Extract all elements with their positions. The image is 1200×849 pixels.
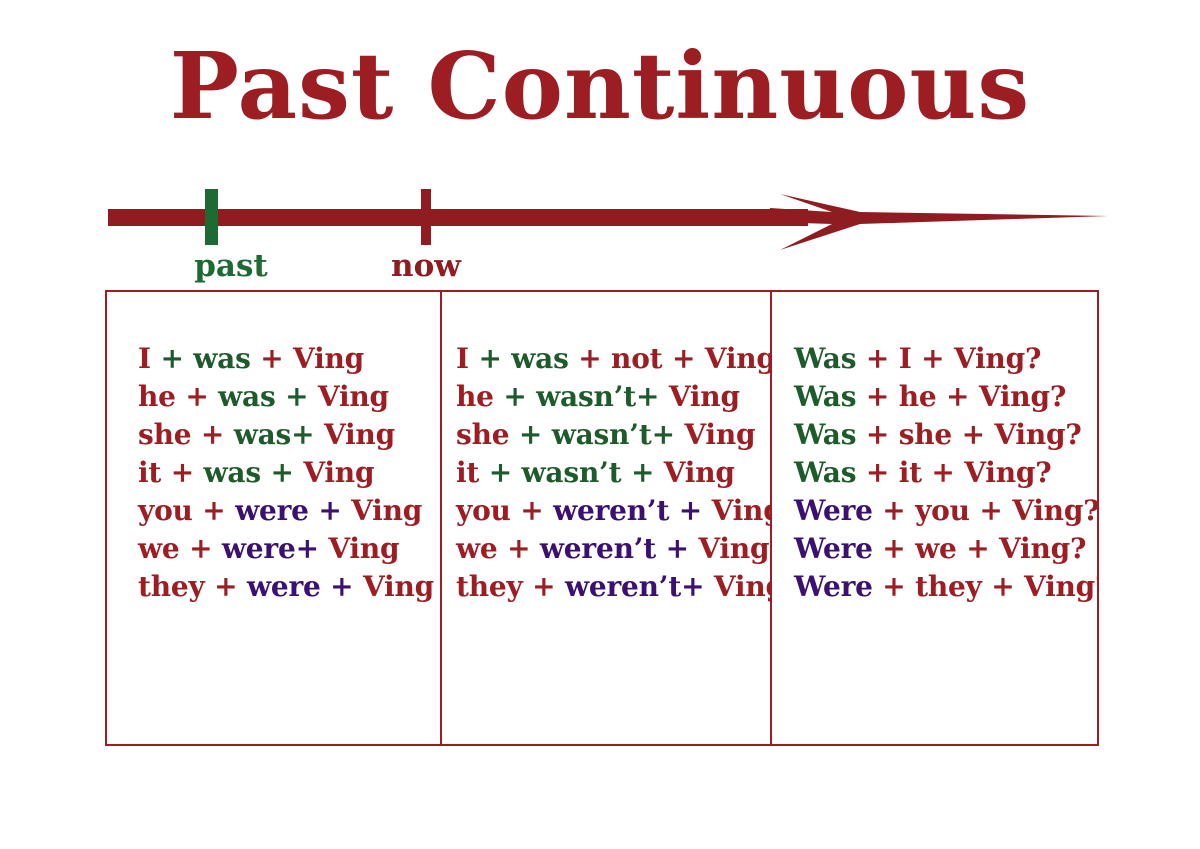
conjugation-row: I + was + Ving [138,340,440,378]
conjugation-segment: + [185,380,218,413]
conjugation-row: Were + they + Ving? [794,568,1097,606]
conjugation-segment: they [456,570,532,603]
conjugation-row: we + were+ Ving [138,530,440,568]
conjugation-segment: + [931,456,964,489]
conjugation-segment: + [866,380,899,413]
conjugation-segment: + [921,342,954,375]
conjugation-segment: was [204,456,271,489]
conjugation-row: he + was + Ving [138,378,440,416]
conjugation-segment: Ving [664,456,735,489]
conjugation-row: it + was + Ving [138,454,440,492]
conjugation-row: Were + you + Ving? [794,492,1097,530]
conjugation-segment: + [318,494,351,527]
conjugation-segment: + [271,456,304,489]
conjugation-segment: Ving? [954,342,1041,375]
conjugation-segment: wasn’t [522,456,631,489]
conjugation-segment: Ving [363,570,434,603]
conjugation-segment: Ving [351,494,422,527]
conjugation-segment: + [189,532,222,565]
conjugation-segment: Ving [684,418,755,451]
conjugation-segment: it [138,456,171,489]
conjugation-segment: + [160,342,193,375]
conjugation-segment: he [899,380,946,413]
conjugation-row: they + were + Ving [138,568,440,606]
conjugation-segment: I [456,342,478,375]
conjugation-segment: + [866,418,899,451]
conjugation-row: she + wasn’t+ Ving [456,416,770,454]
timeline-arrow-icon [770,178,1110,258]
conjugation-segment: + [507,532,540,565]
conjugation-segment: + [478,342,511,375]
conjugation-segment: + [631,456,664,489]
conjugation-table: I + was + Vinghe + was + Vingshe + was+ … [105,290,1099,746]
conjugation-segment: Was [794,456,866,489]
conjugation-segment: + [519,418,552,451]
timeline-tick-past [205,189,218,245]
conjugation-row: she + was+ Ving [138,416,440,454]
conjugation-row: you + were + Ving [138,492,440,530]
conjugation-segment: were [222,532,296,565]
conjugation-segment: weren’t [565,570,681,603]
conjugation-segment: wasn’t [536,380,636,413]
conjugation-segment: she [899,418,962,451]
conjugation-segment: + [296,532,329,565]
conjugation-segment: + [672,342,705,375]
timeline-tick-now [421,189,431,245]
conjugation-segment: + [489,456,522,489]
conjugation-segment: we [915,532,966,565]
conjugation-segment: we [138,532,189,565]
conjugation-segment: + [503,380,536,413]
conjugation-segment: Ving [303,456,374,489]
conjugation-segment: + [979,494,1012,527]
conjugation-segment: weren’t [553,494,679,527]
conjugation-segment: + [532,570,565,603]
conjugation-segment: + [866,342,899,375]
conjugation-segment: he [138,380,185,413]
conjugation-segment: I [899,342,921,375]
conjugation-segment: he [456,380,503,413]
conjugation-segment: was [511,342,578,375]
conjugation-row: Were + we + Ving? [794,530,1097,568]
conjugation-segment: was [218,380,285,413]
conjugation-segment: Ving [328,532,399,565]
conjugation-row: Was + it + Ving? [794,454,1097,492]
conjugation-segment: not [611,342,672,375]
conjugation-row: Was + he + Ving? [794,378,1097,416]
timeline-label-now: now [371,248,481,284]
conjugation-segment: Ving? [999,532,1086,565]
page-title: Past Continuous [0,38,1200,135]
timeline-label-past: past [176,248,286,284]
conjugation-segment: was [193,342,260,375]
conjugation-segment: Was [794,418,866,451]
conjugation-segment: Was [794,342,866,375]
conjugation-segment: Was [794,380,866,413]
conjugation-row: I + was + not + Ving [456,340,770,378]
conjugation-segment: + [882,570,915,603]
conjugation-segment: Ving [318,380,389,413]
conjugation-segment: + [652,418,685,451]
conjugation-segment: they [915,570,991,603]
conjugation-segment: Ving [712,494,772,527]
conjugation-row: it + wasn’t + Ving [456,454,770,492]
conjugation-segment: were [247,570,330,603]
conjugation-segment: Ving [705,342,772,375]
conjugation-segment: + [882,494,915,527]
conjugation-row: he + wasn’t+ Ving [456,378,770,416]
conjugation-segment: Ving? [994,418,1081,451]
conjugation-segment: Ving [714,570,772,603]
conjugation-segment: + [171,456,204,489]
conjugation-segment: Ving? [964,456,1051,489]
conjugation-segment: + [260,342,293,375]
conjugation-segment: Ving [324,418,395,451]
conjugation-segment: were [235,494,318,527]
conjugation-segment: + [636,380,669,413]
conjugation-segment: + [666,532,699,565]
conjugation-segment: + [214,570,247,603]
conjugation-segment: we [456,532,507,565]
conjugation-segment: Were [794,570,882,603]
conjugation-segment: they [138,570,214,603]
conjugation-segment: + [882,532,915,565]
conjugation-segment: + [330,570,363,603]
conjugation-segment: she [456,418,519,451]
timeline-diagram: past now [0,170,1200,285]
table-column-interrogative: Was + I + Ving?Was + he + Ving?Was + she… [772,292,1097,744]
conjugation-segment: was [234,418,291,451]
conjugation-segment: wasn’t [552,418,652,451]
conjugation-segment: + [966,532,999,565]
conjugation-segment: + [285,380,318,413]
conjugation-segment: + [291,418,324,451]
conjugation-segment: + [679,494,712,527]
conjugation-segment: she [138,418,201,451]
conjugation-segment: + [962,418,995,451]
conjugation-segment: weren’t [540,532,666,565]
conjugation-segment: + [202,494,235,527]
conjugation-segment: you [915,494,979,527]
conjugation-row: we + weren’t + Ving [456,530,770,568]
conjugation-segment: + [866,456,899,489]
conjugation-row: you + weren’t + Ving [456,492,770,530]
conjugation-segment: Ving [669,380,740,413]
conjugation-segment: Ving? [1024,570,1097,603]
table-column-affirmative: I + was + Vinghe + was + Vingshe + was+ … [107,292,442,744]
conjugation-row: Was + she + Ving? [794,416,1097,454]
conjugation-segment: it [899,456,932,489]
conjugation-row: Was + I + Ving? [794,340,1097,378]
conjugation-segment: + [201,418,234,451]
conjugation-segment: it [456,456,489,489]
conjugation-segment: Ving [293,342,364,375]
conjugation-segment: Ving? [979,380,1066,413]
conjugation-segment: + [991,570,1024,603]
conjugation-segment: + [681,570,714,603]
conjugation-segment: Ving [698,532,769,565]
conjugation-segment: Were [794,494,882,527]
conjugation-segment: I [138,342,160,375]
table-column-negative: I + was + not + Vinghe + wasn’t+ Vingshe… [442,292,772,744]
conjugation-segment: you [456,494,520,527]
conjugation-row: they + weren’t+ Ving [456,568,770,606]
conjugation-segment: Were [794,532,882,565]
conjugation-segment: Ving? [1012,494,1097,527]
conjugation-segment: you [138,494,202,527]
conjugation-segment: + [578,342,611,375]
conjugation-segment: + [520,494,553,527]
conjugation-segment: + [946,380,979,413]
